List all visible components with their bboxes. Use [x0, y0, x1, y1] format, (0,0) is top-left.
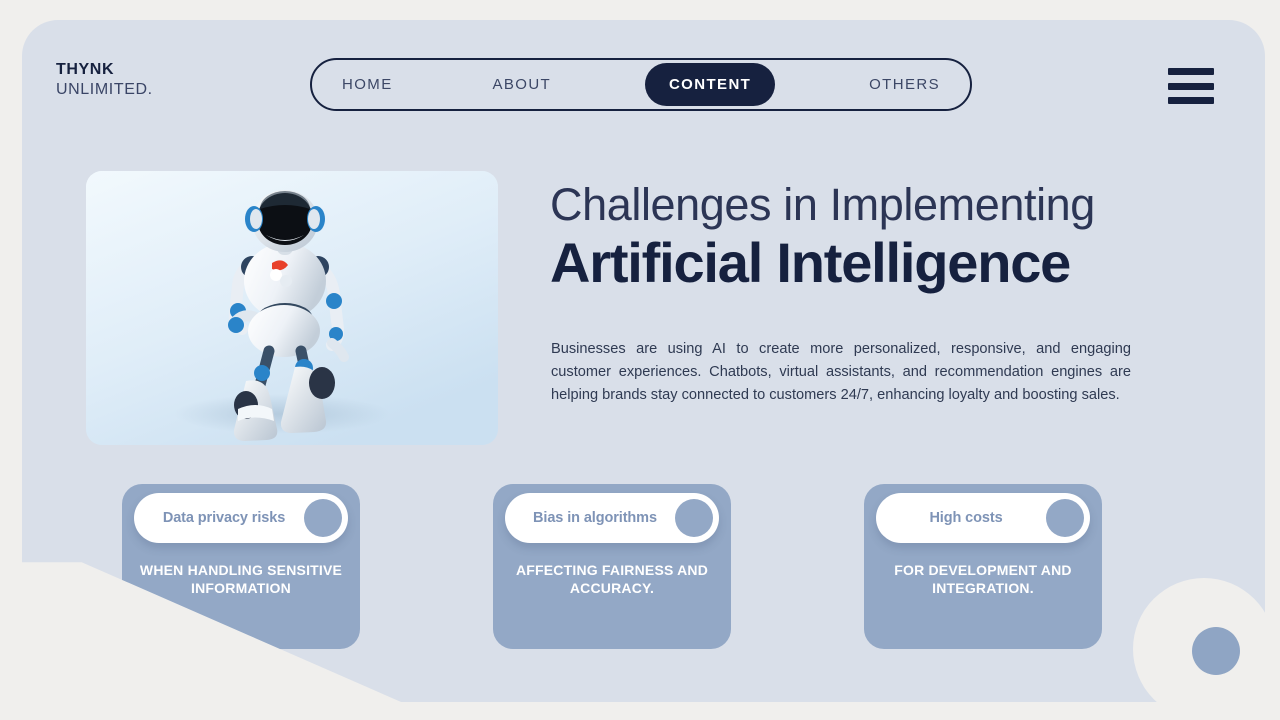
main-navigation: HOME ABOUT CONTENT OTHERS [310, 58, 972, 111]
card-title-pill[interactable]: Bias in algorithms [505, 493, 719, 543]
page-header: THYNK UNLIMITED. HOME ABOUT CONTENT OTHE… [22, 20, 1265, 140]
card-description: WHEN HANDLING SENSITIVE INFORMATION [132, 562, 350, 597]
card-dot-icon [675, 499, 713, 537]
main-panel: THYNK UNLIMITED. HOME ABOUT CONTENT OTHE… [22, 20, 1265, 702]
card-description: FOR DEVELOPMENT AND INTEGRATION. [874, 562, 1092, 597]
hero-heading: Challenges in Implementing Artificial In… [550, 180, 1220, 295]
hamburger-bar-3 [1168, 97, 1214, 104]
hamburger-bar-2 [1168, 83, 1214, 90]
card-dot-icon [1046, 499, 1084, 537]
card-title: High costs [876, 510, 1046, 526]
card-title-pill[interactable]: High costs [876, 493, 1090, 543]
nav-item-home[interactable]: HOME [342, 76, 393, 93]
challenge-card[interactable]: Bias in algorithms AFFECTING FAIRNESS AN… [493, 484, 731, 649]
decorative-inner-circle [1192, 627, 1240, 675]
hamburger-bar-1 [1168, 68, 1214, 75]
brand-name-line1: THYNK [56, 60, 153, 80]
challenge-card[interactable]: Data privacy risks WHEN HANDLING SENSITI… [122, 484, 360, 649]
brand-name-line2: UNLIMITED. [56, 80, 153, 100]
hamburger-icon[interactable] [1168, 68, 1214, 104]
card-title: Data privacy risks [134, 510, 304, 526]
nav-item-others[interactable]: OTHERS [869, 76, 940, 93]
card-title-pill[interactable]: Data privacy risks [134, 493, 348, 543]
heading-line-1: Challenges in Implementing [550, 180, 1220, 230]
challenge-card[interactable]: High costs FOR DEVELOPMENT AND INTEGRATI… [864, 484, 1102, 649]
brand-logo[interactable]: THYNK UNLIMITED. [56, 60, 153, 101]
card-dot-icon [304, 499, 342, 537]
card-title: Bias in algorithms [505, 510, 675, 526]
nav-item-about[interactable]: ABOUT [492, 76, 551, 93]
robot-hero-image [86, 171, 498, 445]
heading-line-2: Artificial Intelligence [550, 232, 1220, 295]
hero-body-text: Businesses are using AI to create more p… [551, 338, 1131, 406]
card-description: AFFECTING FAIRNESS AND ACCURACY. [503, 562, 721, 597]
nav-item-content[interactable]: CONTENT [645, 63, 775, 106]
